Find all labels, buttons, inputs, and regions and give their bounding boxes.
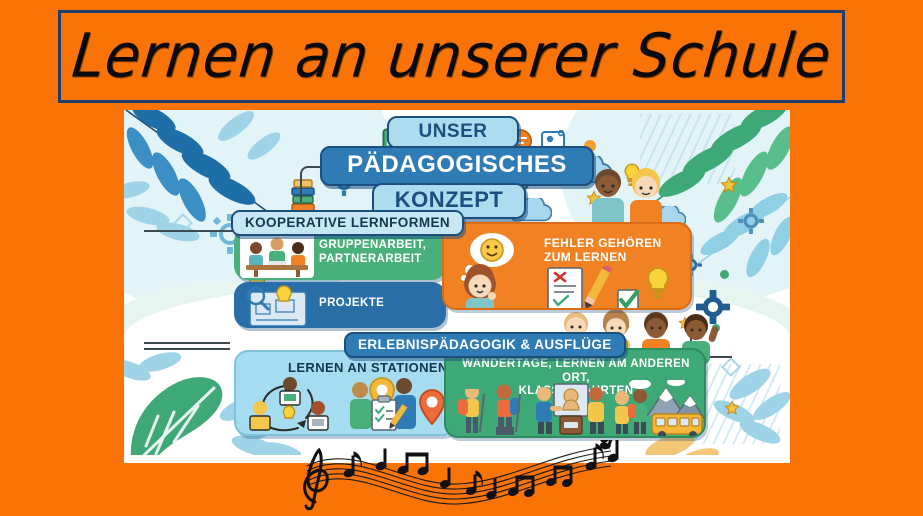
card-projekte[interactable]: PROJEKTE (234, 282, 446, 328)
students-at-table-icon (240, 232, 314, 278)
page-title: Lernen an unserer Schule (68, 21, 834, 91)
card-wandertage[interactable]: WANDERTAGE, LERNEN AM ANDEREN ORT, KLASS… (444, 348, 706, 438)
card-label-line2: ZUM LERNEN (544, 250, 627, 264)
star-icon (724, 400, 740, 416)
headline-line-2: PÄDAGOGISCHES (320, 146, 594, 186)
section-banner-erlebnispaedagogik: ERLEBNISPÄDAGOGIK & AUSFLÜGE (344, 332, 626, 358)
magnifier-blueprint-bulb-icon (240, 284, 314, 326)
slide-root: { "page": { "title": "Lernen an unserer … (0, 0, 923, 516)
card-fehler-gehoeren-zum-lernen[interactable]: FEHLER GEHÖREN ZUM LERNEN (442, 222, 692, 310)
location-pin-clipboard-icon (348, 374, 452, 436)
star-icon (720, 176, 738, 194)
connector-line (144, 342, 230, 344)
headline-line-1: UNSER (387, 116, 519, 149)
infographic-panel: UNSER PÄDAGOGISCHES KONZEPT KOOPERATIVE … (124, 110, 790, 462)
hikers-museum-bus-icon (450, 380, 704, 438)
gear-icon (738, 208, 764, 234)
section-banner-kooperative-lernformen: KOOPERATIVE LERNFORMEN (231, 210, 464, 236)
connector-line (144, 348, 230, 350)
station-cycle-icon (242, 374, 350, 436)
card-label-line1: GRUPPENARBEIT, (319, 239, 426, 251)
thinking-girl-icon (448, 230, 544, 310)
card-label-line2: PARTNERARBEIT (319, 253, 422, 265)
card-label-gruppenarbeit: GRUPPENARBEIT, PARTNERARBEIT (319, 239, 426, 266)
card-lernen-an-stationen[interactable]: LERNEN AN STATIONEN (234, 350, 456, 436)
headline-block: UNSER PÄDAGOGISCHES KONZEPT (317, 116, 597, 219)
paper-pencil-check-bulb-icon (544, 266, 686, 310)
title-box: Lernen an unserer Schule (58, 10, 845, 103)
music-staff-decoration (285, 440, 645, 516)
card-label-fehler: FEHLER GEHÖREN ZUM LERNEN (544, 236, 662, 264)
card-label-projekte: PROJEKTE (319, 297, 384, 311)
treble-clef-icon (305, 450, 328, 509)
card-label-line1: FEHLER GEHÖREN (544, 236, 662, 250)
dot-decor-icon (720, 270, 729, 279)
connector-line (144, 230, 236, 232)
